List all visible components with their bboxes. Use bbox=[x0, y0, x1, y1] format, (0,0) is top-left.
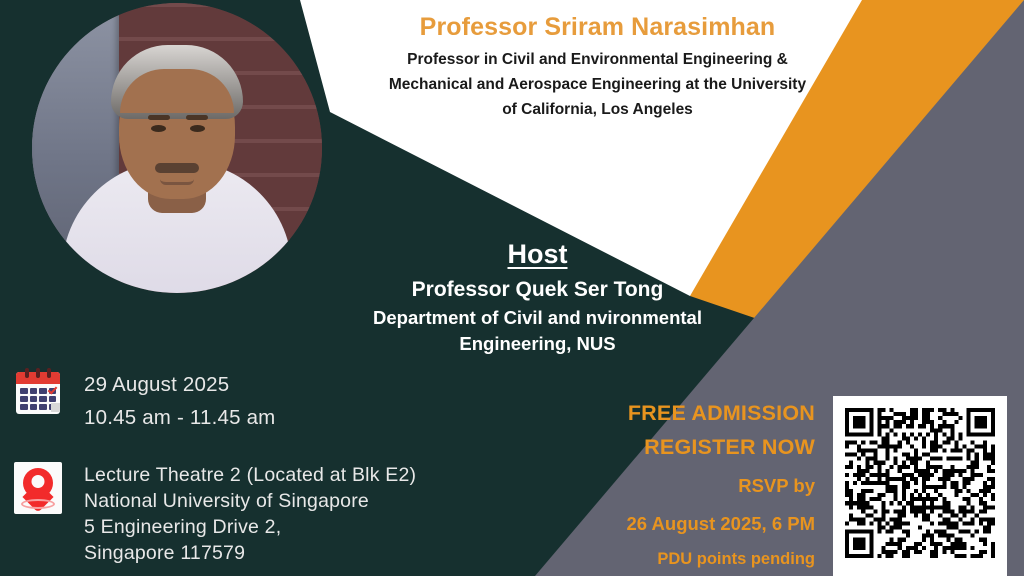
cta-block: FREE ADMISSION REGISTER NOW RSVP by 26 A… bbox=[577, 396, 815, 574]
qr-code-icon[interactable] bbox=[845, 408, 995, 558]
host-department-line-2: Engineering, NUS bbox=[300, 331, 775, 357]
event-location-row: Lecture Theatre 2 (Located at Blk E2) Na… bbox=[14, 462, 416, 566]
rsvp-by-label: RSVP by bbox=[577, 470, 815, 502]
portrait-mouth bbox=[160, 179, 194, 185]
location-pin-icon bbox=[14, 462, 62, 514]
portrait-brow-right bbox=[186, 115, 208, 120]
poster-canvas: Professor Sriram Narasimhan Professor in… bbox=[0, 0, 1024, 576]
host-label: Host bbox=[300, 236, 775, 272]
speaker-heading-block: Professor Sriram Narasimhan Professor in… bbox=[330, 10, 865, 122]
venue-line-2: National University of Singapore bbox=[84, 488, 416, 514]
register-now-label[interactable]: REGISTER NOW bbox=[577, 430, 815, 464]
rsvp-deadline: 26 August 2025, 6 PM bbox=[577, 508, 815, 540]
event-date: 29 August 2025 bbox=[84, 368, 275, 401]
calendar-icon bbox=[14, 368, 62, 414]
venue-line-4: Singapore 117579 bbox=[84, 540, 416, 566]
speaker-portrait bbox=[32, 3, 322, 293]
speaker-affiliation-line-2: Mechanical and Aerospace Engineering at … bbox=[330, 72, 865, 97]
event-location-text: Lecture Theatre 2 (Located at Blk E2) Na… bbox=[84, 462, 416, 566]
speaker-name: Professor Sriram Narasimhan bbox=[330, 10, 865, 44]
portrait-eye-left bbox=[151, 125, 166, 132]
portrait-eye-right bbox=[190, 125, 205, 132]
free-admission-label: FREE ADMISSION bbox=[577, 396, 815, 430]
speaker-affiliation-line-1: Professor in Civil and Environmental Eng… bbox=[330, 47, 865, 72]
host-department-line-1: Department of Civil and nvironmental bbox=[300, 305, 775, 331]
event-datetime-text: 29 August 2025 10.45 am - 11.45 am bbox=[84, 368, 275, 434]
portrait-brow-left bbox=[148, 115, 170, 120]
venue-line-1: Lecture Theatre 2 (Located at Blk E2) bbox=[84, 462, 416, 488]
portrait-moustache bbox=[155, 163, 199, 173]
speaker-affiliation-line-3: of California, Los Angeles bbox=[330, 97, 865, 122]
host-name: Professor Quek Ser Tong bbox=[300, 274, 775, 305]
speaker-affiliation: Professor in Civil and Environmental Eng… bbox=[330, 47, 865, 122]
event-time: 10.45 am - 11.45 am bbox=[84, 401, 275, 434]
host-block: Host Professor Quek Ser Tong Department … bbox=[300, 236, 775, 357]
pdu-note: PDU points pending bbox=[577, 544, 815, 574]
qr-code-panel[interactable] bbox=[833, 396, 1007, 576]
event-datetime-row: 29 August 2025 10.45 am - 11.45 am bbox=[14, 368, 275, 434]
venue-line-3: 5 Engineering Drive 2, bbox=[84, 514, 416, 540]
